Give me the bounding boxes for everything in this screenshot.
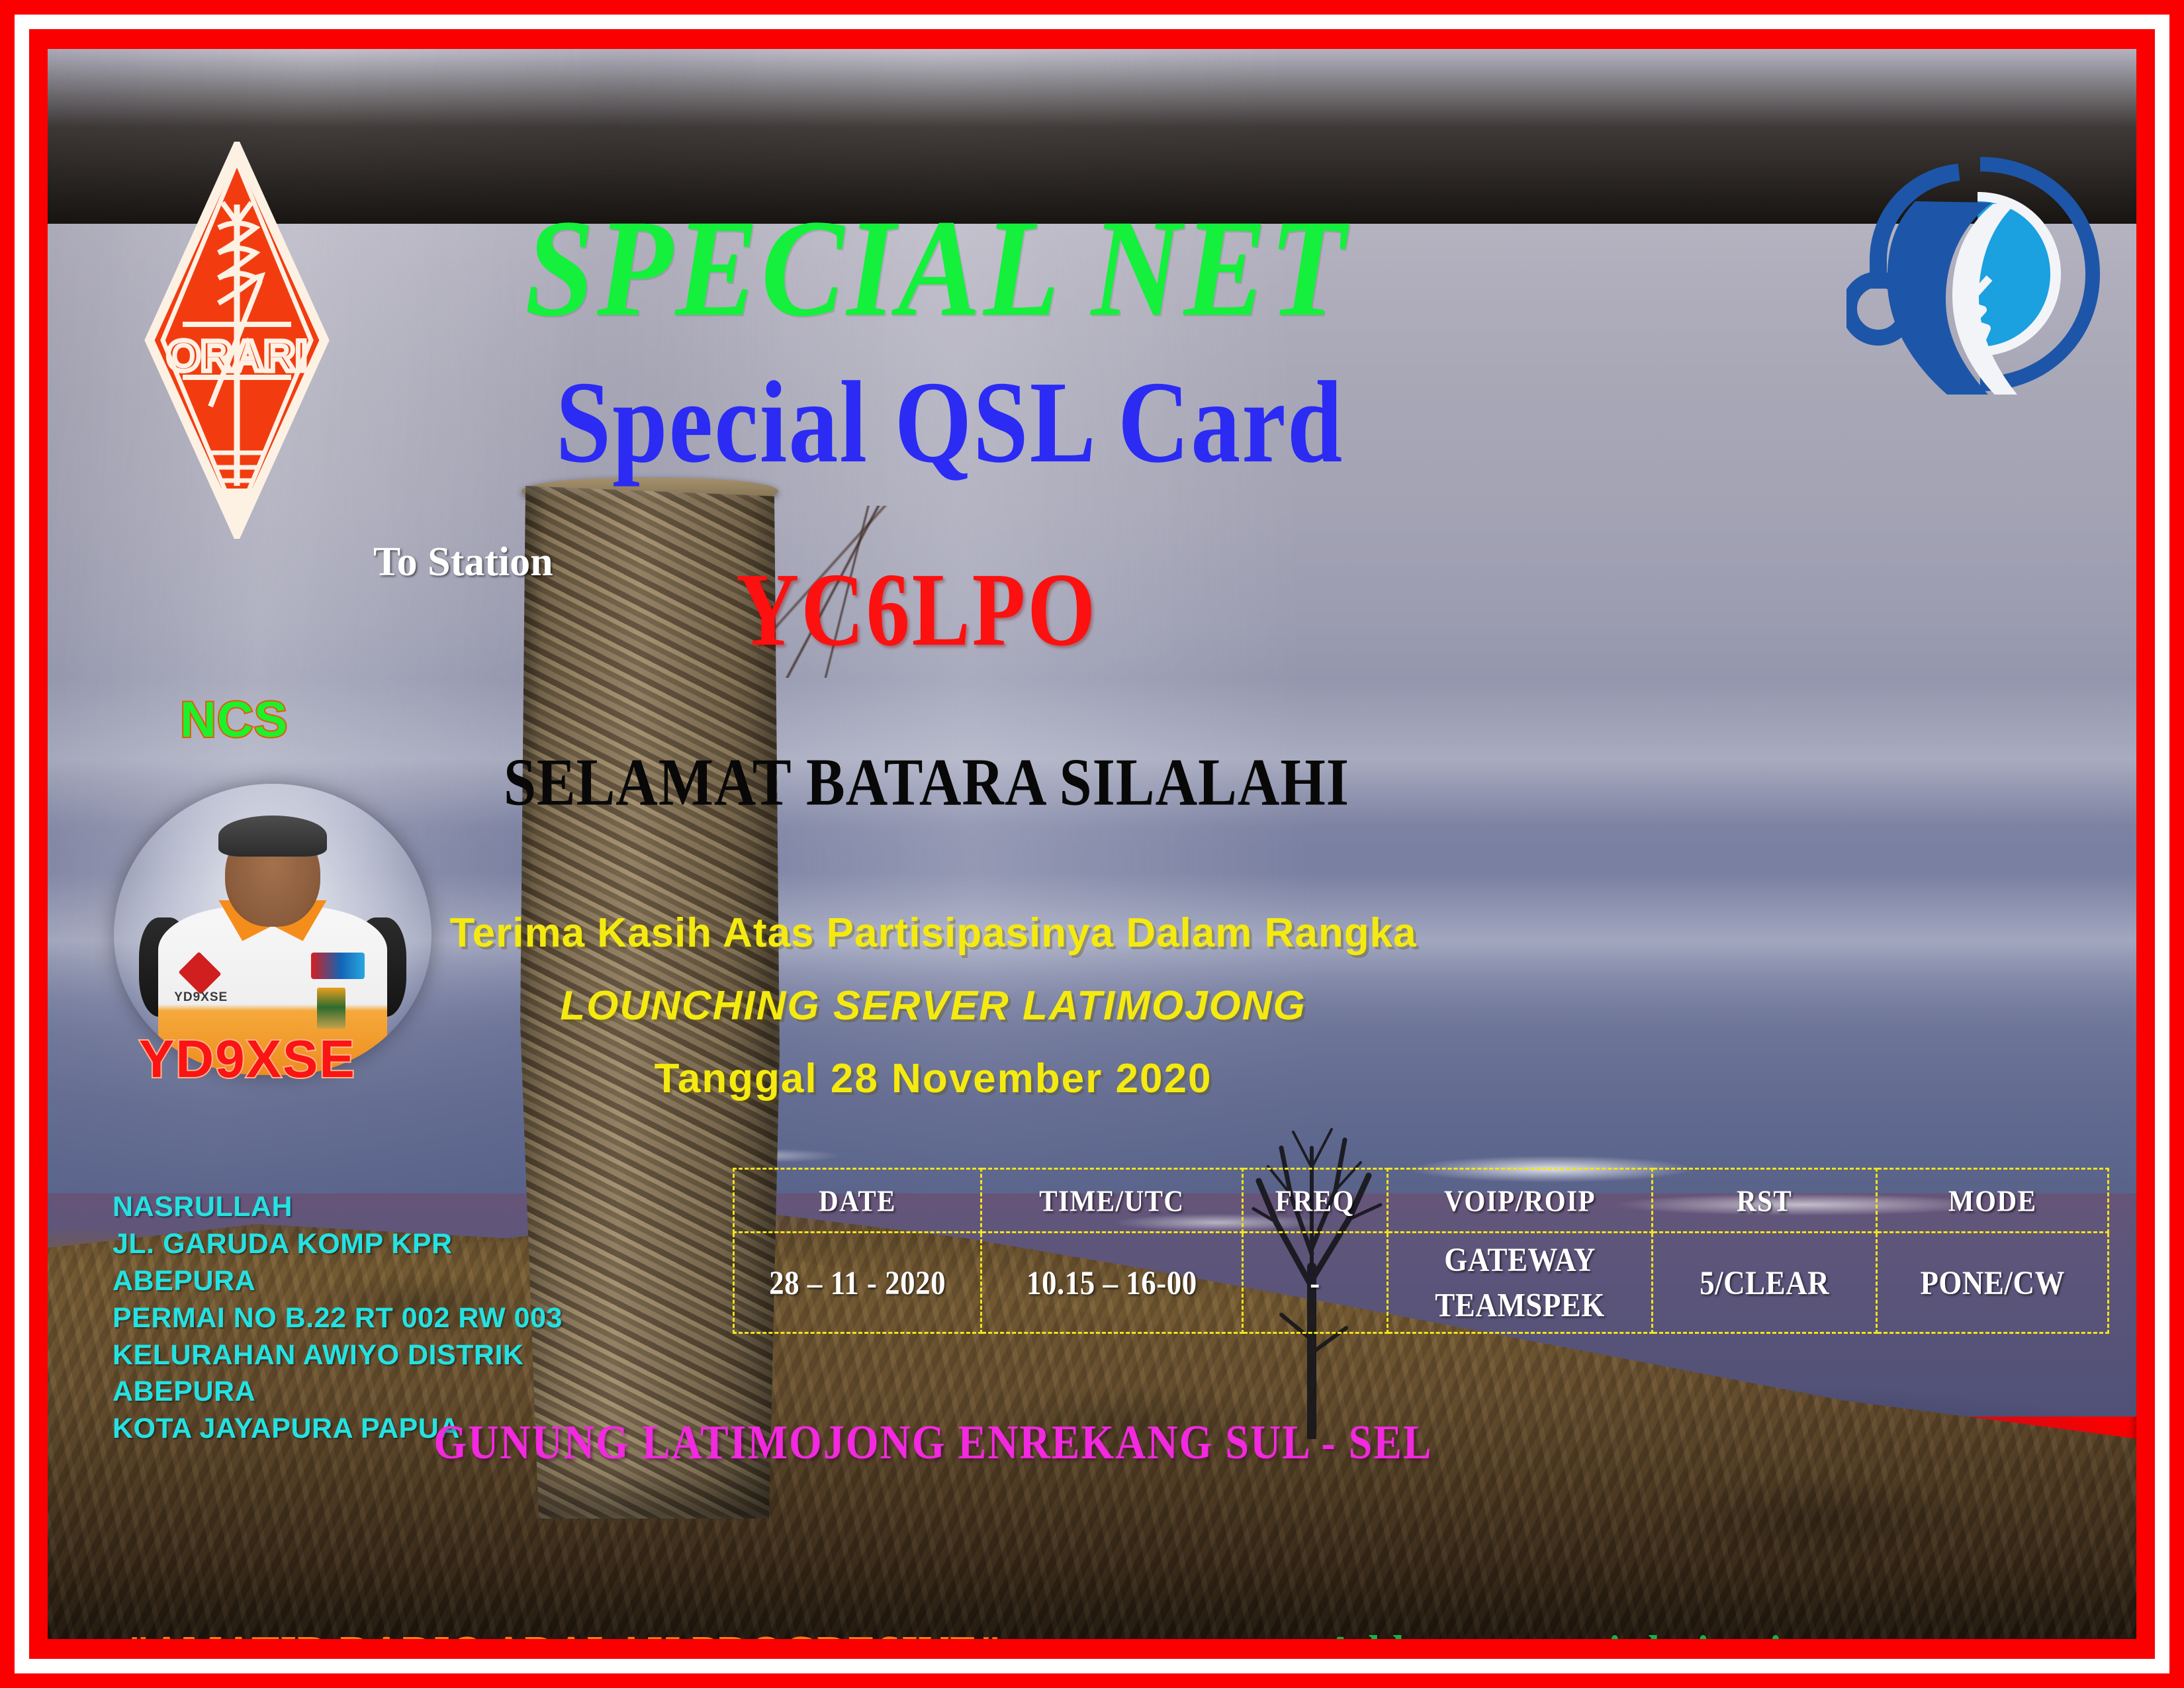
table-row: 28 – 11 - 2020 10.15 – 16-00 - GATEWAY T… — [734, 1233, 2109, 1333]
address-line: NASRULLAH — [113, 1189, 563, 1226]
cell-mode: PONE/CW — [1877, 1226, 2109, 1338]
column-header-voip: VOIP/ROIP — [1388, 1165, 1653, 1237]
address-line: KELURAHAN AWIYO DISTRIK — [113, 1337, 563, 1374]
website-address: Address : amatir.latimojong.com — [1325, 1625, 1938, 1639]
motto-text: "AMATIR RADIO ADALAH PROGRESIVE" — [127, 1625, 1003, 1639]
avatar-id-lanyard — [317, 988, 345, 1029]
ncs-label: NCS — [180, 691, 288, 749]
column-header-date: DATE — [734, 1165, 981, 1237]
column-header-freq: FREQ — [1242, 1165, 1388, 1237]
table-header-row: DATE TIME/UTC FREQ VOIP/ROIP RST MODE — [734, 1169, 2109, 1233]
page-title: SPECIAL NET — [48, 187, 2136, 348]
address-line: ABEPURA — [113, 1374, 563, 1411]
recipient-callsign: YC6LPO — [48, 549, 2136, 671]
column-header-rst: RST — [1652, 1165, 1877, 1237]
qsl-card-frame: ORARI — [0, 0, 2184, 1688]
cell-rst: 5/CLEAR — [1652, 1226, 1877, 1338]
address-line: JL. GARUDA KOMP KPR — [113, 1226, 563, 1263]
card-photo-area: ORARI — [48, 49, 2136, 1639]
cell-time: 10.15 – 16-00 — [981, 1226, 1242, 1338]
card-subtitle: Special QSL Card — [48, 355, 2136, 490]
avatar-logo-patch — [311, 953, 365, 979]
column-header-mode: MODE — [1877, 1165, 2109, 1237]
operator-callsign: YD9XSE — [139, 1029, 356, 1090]
operator-address-block: NASRULLAH JL. GARUDA KOMP KPR ABEPURA PE… — [113, 1189, 563, 1448]
avatar-hair — [218, 816, 326, 857]
cell-voip: GATEWAY TEAMSPEK — [1388, 1226, 1653, 1338]
cell-freq: - — [1242, 1226, 1388, 1338]
address-line: PERMAI NO B.22 RT 002 RW 003 — [113, 1300, 563, 1337]
avatar-shirt-callsign: YD9XSE — [174, 990, 228, 1005]
cell-date: 28 – 11 - 2020 — [734, 1226, 981, 1338]
location-caption: GUNUNG LATIMOJONG ENREKANG SUL - SEL — [48, 1414, 2136, 1470]
address-line: ABEPURA — [113, 1263, 563, 1300]
qso-log-table: DATE TIME/UTC FREQ VOIP/ROIP RST MODE 28… — [733, 1168, 2109, 1334]
column-header-time: TIME/UTC — [981, 1165, 1242, 1237]
